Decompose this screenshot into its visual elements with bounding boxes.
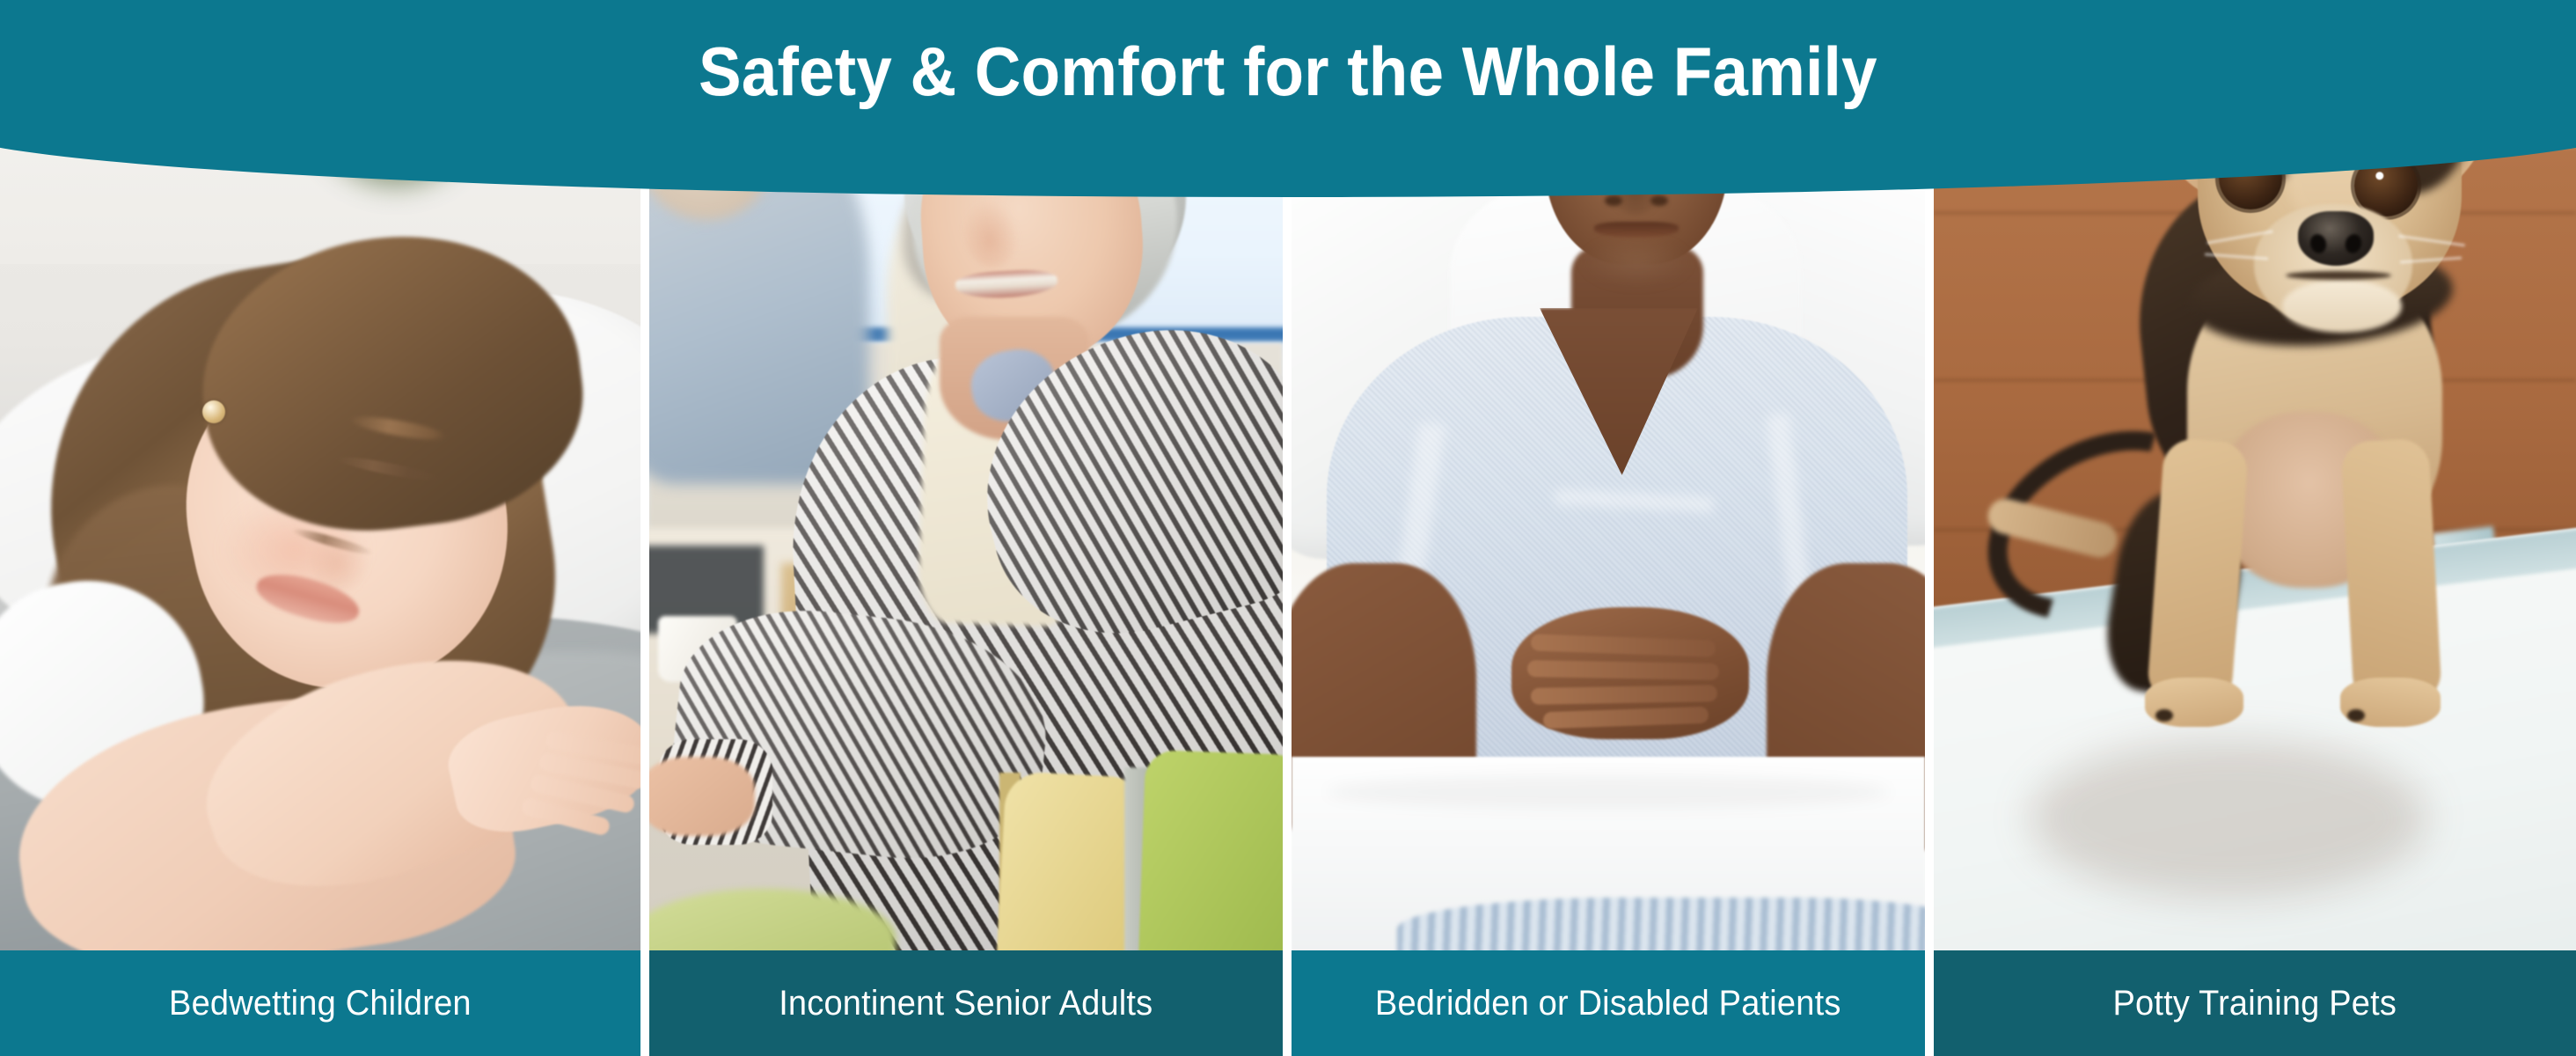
photo-senior-woman [649,0,1283,950]
child-earring [202,400,225,423]
panel-grid: Bedwetting Children [0,0,2576,1056]
caption-bar-potty-training-pets: Potty Training Pets [1934,950,2576,1056]
patient-forehead-highlight [1564,46,1712,143]
dog-nose [2298,211,2374,266]
panel-gutter [1283,0,1292,1056]
patient-finger [1527,660,1719,680]
caption-label: Bedridden or Disabled Patients [1375,984,1841,1023]
patient-nostril [1605,195,1622,206]
patient-eye [1571,132,1608,146]
light-bokeh [355,55,387,81]
photo-chihuahua-dog [1934,0,2576,950]
patient-finger [1531,685,1717,705]
panel-bedwetting-children[interactable]: Bedwetting Children [0,0,640,1056]
photo-hospital-patient [1292,0,1925,950]
dog-shadow [2031,739,2426,898]
panel-potty-training-pets[interactable]: Potty Training Pets [1934,0,2576,1056]
sheet-fold [1327,774,1890,810]
blue-blanket [1397,898,1925,950]
promotional-banner: Bedwetting Children [0,0,2576,1056]
background-person-hair [649,88,764,167]
dog-toenail [2347,709,2365,722]
patient-eye [1640,132,1677,146]
caption-label: Incontinent Senior Adults [779,984,1153,1023]
woman-hand [649,757,755,836]
dog-front-leg-right [2340,438,2442,707]
dog-mouth [2286,271,2391,280]
caption-label: Potty Training Pets [2113,984,2397,1023]
photo-sleeping-child [0,0,640,950]
patient-chin [1582,238,1691,287]
patient-smile [1594,222,1679,238]
dog-eye-right [2354,155,2418,216]
dog-chin [2282,280,2402,333]
green-chair [1138,750,1283,950]
caption-label: Bedwetting Children [169,984,472,1023]
panel-gutter [1925,0,1934,1056]
screen-line [922,40,1283,47]
patient-nostril [1650,195,1668,206]
panel-incontinent-senior-adults[interactable]: Incontinent Senior Adults [649,0,1283,1056]
caption-bar-bedwetting-children: Bedwetting Children [0,950,640,1056]
caption-bar-incontinent-senior-adults: Incontinent Senior Adults [649,950,1283,1056]
panel-bedridden-or-disabled-patients[interactable]: Bedridden or Disabled Patients [1292,0,1925,1056]
caption-bar-bedridden-or-disabled-patients: Bedridden or Disabled Patients [1292,950,1925,1056]
dog-eye-left [2219,148,2282,209]
dog-toenail [2155,709,2173,722]
panel-gutter [640,0,649,1056]
